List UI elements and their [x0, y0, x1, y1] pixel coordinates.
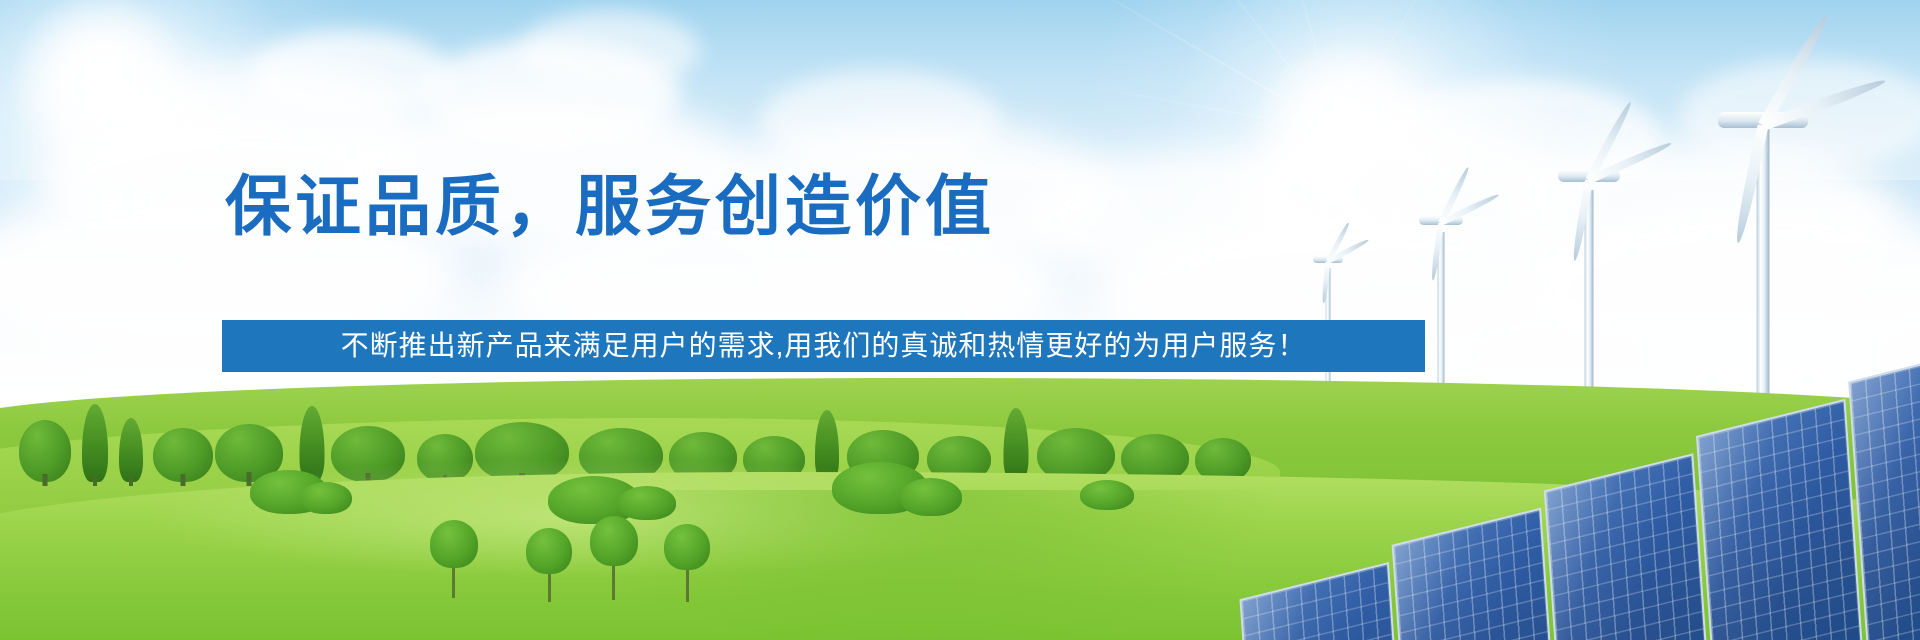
banner-subtitle-text: 不断推出新产品来满足用户的需求,用我们的真诚和热情更好的为用户服务！	[341, 330, 1307, 362]
sapling-crown-icon	[590, 516, 638, 566]
sapling-crown-icon	[430, 520, 478, 568]
banner-subtitle-bar: 不断推出新产品来满足用户的需求,用我们的真诚和热情更好的为用户服务！	[222, 320, 1425, 372]
tree-icon	[18, 410, 72, 486]
bush-icon	[618, 486, 676, 520]
hero-banner: 保证品质，服务创造价值 不断推出新产品来满足用户的需求,用我们的真诚和热情更好的…	[0, 0, 1920, 640]
sapling-crown-icon	[526, 528, 572, 574]
bush-icon	[900, 478, 962, 516]
banner-headline: 保证品质，服务创造价值	[0, 170, 1220, 242]
cloud-icon	[250, 30, 450, 120]
bush-icon	[1080, 480, 1134, 510]
cloud-icon	[520, 10, 700, 90]
solar-panel	[1392, 508, 1562, 640]
solar-panel	[1544, 453, 1715, 640]
cloud-icon	[760, 70, 1000, 170]
solar-panel	[1239, 562, 1408, 640]
solar-panel	[1696, 399, 1868, 640]
sapling-crown-icon	[664, 524, 710, 570]
tree-icon	[78, 400, 112, 486]
bush-icon	[300, 482, 352, 514]
